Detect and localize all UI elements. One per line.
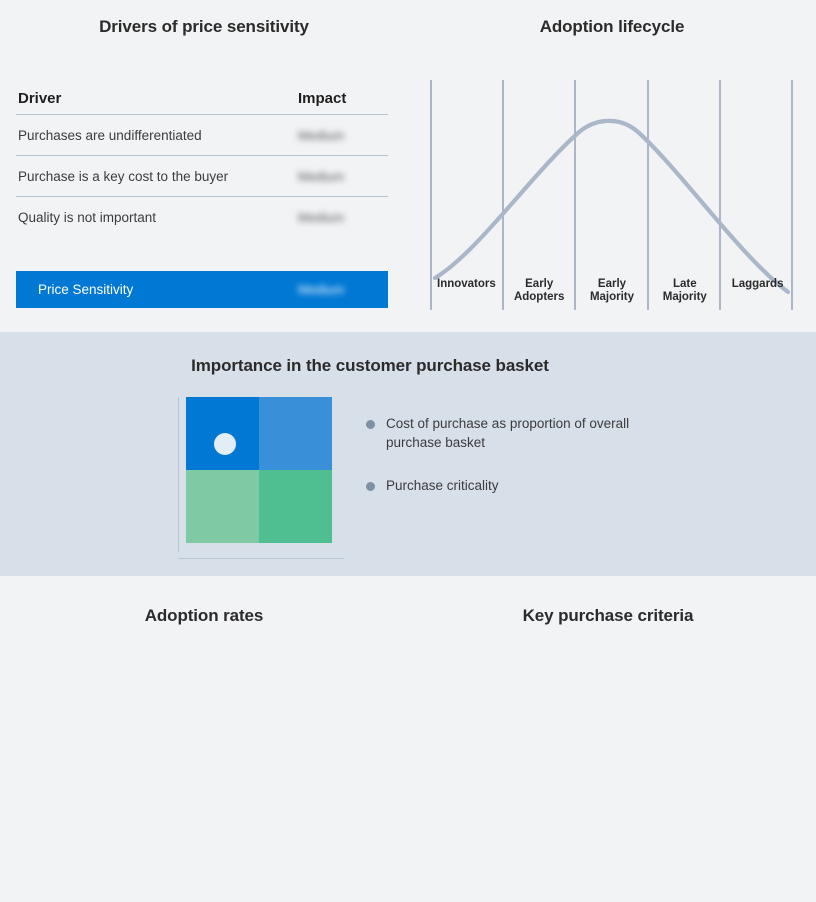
infographic-page: Drivers of price sensitivity Driver Impa… bbox=[0, 0, 816, 902]
key-purchase-criteria-title: Key purchase criteria bbox=[400, 606, 816, 626]
bullet-icon bbox=[366, 482, 375, 491]
driver-label: Purchase is a key cost to the buyer bbox=[18, 169, 298, 184]
table-row: Quality is not important Medium bbox=[16, 197, 388, 238]
lifecycle-segment-laggards: Laggards bbox=[721, 278, 794, 304]
column-header-impact: Impact bbox=[298, 90, 384, 107]
segment-line-1: Early bbox=[576, 278, 649, 291]
legend-item-label: Purchase criticality bbox=[386, 476, 499, 495]
segment-line-2: Laggards bbox=[721, 278, 794, 291]
legend-item: Purchase criticality bbox=[366, 476, 666, 495]
table-row: Purchase is a key cost to the buyer Medi… bbox=[16, 156, 388, 197]
drivers-table: Driver Impact Purchases are undifferenti… bbox=[16, 90, 388, 238]
segment-line-2: Majority bbox=[648, 291, 721, 304]
segment-line-2: Adopters bbox=[503, 291, 576, 304]
drivers-table-header: Driver Impact bbox=[16, 90, 388, 115]
segment-line-1: Late bbox=[648, 278, 721, 291]
impact-value: Medium bbox=[298, 169, 384, 184]
impact-value: Medium bbox=[298, 210, 384, 225]
lifecycle-segment-late-majority: Late Majority bbox=[648, 278, 721, 304]
bottom-band: Adoption rates ChinaGermanyIndiaJapanUS … bbox=[0, 576, 816, 902]
key-purchase-criteria-chart: Key purchase criteria InnovationPriceQua… bbox=[400, 576, 816, 902]
importance-panel-title: Importance in the customer purchase bask… bbox=[0, 356, 740, 376]
drivers-panel-title: Drivers of price sensitivity bbox=[0, 17, 408, 37]
lifecycle-segment-early-adopters: Early Adopters bbox=[503, 278, 576, 304]
lifecycle-segment-early-majority: Early Majority bbox=[576, 278, 649, 304]
middle-band: Importance in the customer purchase bask… bbox=[0, 332, 816, 576]
lifecycle-segment-innovators: Innovators bbox=[430, 278, 503, 304]
segment-line-1: Early bbox=[503, 278, 576, 291]
lifecycle-chart bbox=[430, 80, 794, 310]
adoption-rates-chart: Adoption rates ChinaGermanyIndiaJapanUS bbox=[0, 576, 408, 902]
position-marker-dot bbox=[214, 433, 236, 455]
table-row: Purchases are undifferentiated Medium bbox=[16, 115, 388, 156]
driver-label: Purchases are undifferentiated bbox=[18, 128, 298, 143]
quadrant-x-axis bbox=[178, 558, 344, 559]
importance-legend: Cost of purchase as proportion of overal… bbox=[366, 414, 666, 519]
impact-value: Medium bbox=[298, 282, 384, 297]
lifecycle-dividers bbox=[431, 80, 792, 310]
quadrant-y-axis bbox=[178, 397, 179, 552]
adoption-rates-title: Adoption rates bbox=[0, 606, 408, 626]
column-header-driver: Driver bbox=[18, 90, 298, 107]
legend-item: Cost of purchase as proportion of overal… bbox=[366, 414, 666, 452]
quadrant-top-right bbox=[259, 397, 332, 470]
driver-label: Price Sensitivity bbox=[38, 282, 298, 297]
quadrant-bottom-left bbox=[186, 470, 259, 543]
bullet-icon bbox=[366, 420, 375, 429]
segment-line-2: Majority bbox=[576, 291, 649, 304]
top-band: Drivers of price sensitivity Driver Impa… bbox=[0, 0, 816, 332]
driver-label: Quality is not important bbox=[18, 210, 298, 225]
importance-panel: Importance in the customer purchase bask… bbox=[0, 332, 816, 576]
quadrant-matrix bbox=[178, 397, 338, 559]
lifecycle-segment-labels: Innovators Early Adopters Early Majority… bbox=[430, 278, 794, 304]
legend-item-label: Cost of purchase as proportion of overal… bbox=[386, 414, 666, 452]
quadrant-grid bbox=[186, 397, 332, 543]
lifecycle-panel-title: Adoption lifecycle bbox=[408, 17, 816, 37]
segment-line-2: Innovators bbox=[430, 278, 503, 291]
quadrant-bottom-right bbox=[259, 470, 332, 543]
lifecycle-panel: Adoption lifecycle bbox=[408, 0, 816, 332]
bell-curve-path bbox=[435, 121, 788, 292]
table-row-highlighted: Price Sensitivity Medium bbox=[16, 271, 388, 308]
impact-value: Medium bbox=[298, 128, 384, 143]
bell-curve-svg bbox=[430, 80, 794, 310]
drivers-panel: Drivers of price sensitivity Driver Impa… bbox=[0, 0, 408, 332]
